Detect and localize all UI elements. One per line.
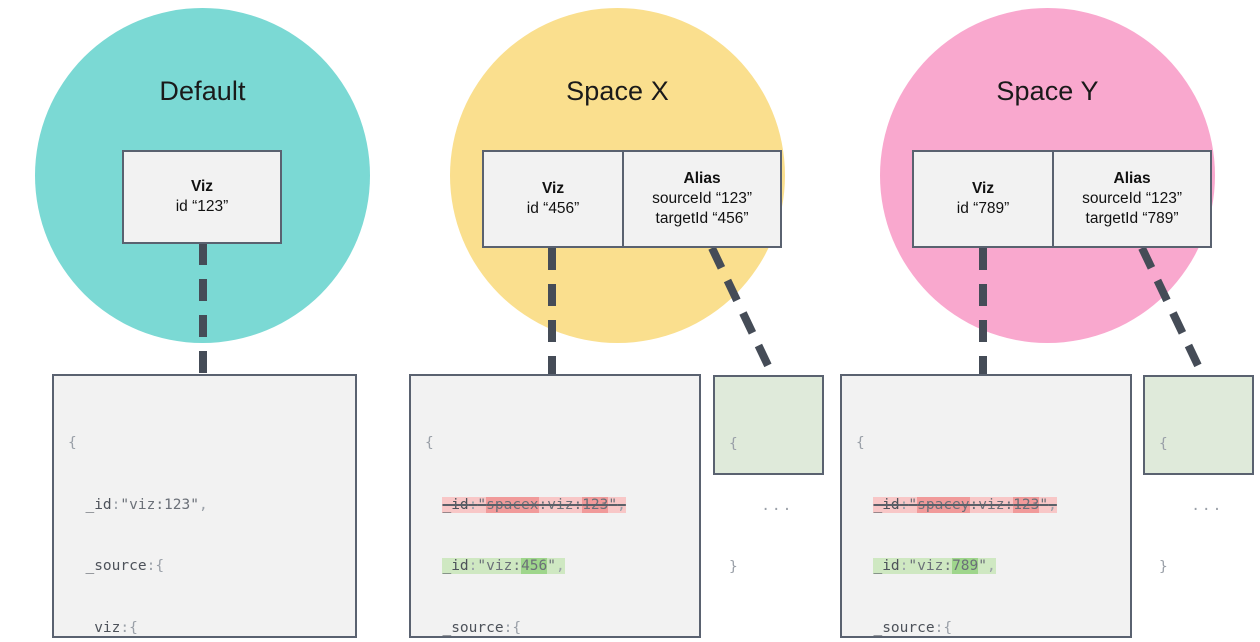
comma: , <box>556 558 565 574</box>
code-line: } <box>729 557 808 578</box>
code-line: { <box>425 433 685 454</box>
value-id-number-removed: 123 <box>582 497 608 513</box>
entity-title-viz: Viz <box>191 177 213 197</box>
colon: : <box>147 558 156 574</box>
entity-cell-viz-spacex: Viz id “456” <box>484 152 622 246</box>
entity-title-viz: Viz <box>542 179 564 199</box>
code-line-added: _id:"viz:456", <box>425 556 685 577</box>
key-id-removed: _id <box>442 497 468 513</box>
brace-open: { <box>425 435 434 451</box>
brace-close: } <box>1159 559 1168 575</box>
space-title-spacey: Space Y <box>880 76 1215 107</box>
code-line: _source:{ <box>856 618 1116 639</box>
quote: " <box>608 497 617 513</box>
entity-cell-viz-default: Viz id “123” <box>124 152 280 242</box>
entity-detail-id: id “789” <box>957 199 1010 219</box>
key-id-removed: _id <box>873 497 899 513</box>
entity-box-spacex: Viz id “456” Alias sourceId “123” target… <box>482 150 782 248</box>
code-line: _source:{ <box>68 556 341 577</box>
entity-detail-sourceid: sourceId “123” <box>1082 189 1182 209</box>
entity-detail-targetid: targetId “456” <box>656 209 749 229</box>
quote: " <box>978 558 987 574</box>
colon: : <box>120 620 129 636</box>
entity-title-alias: Alias <box>684 169 721 189</box>
value-id-number-removed: 123 <box>1013 497 1039 513</box>
value-id-namespace-removed: spacey <box>917 497 969 513</box>
entity-cell-viz-spacey: Viz id “789” <box>914 152 1052 246</box>
key-id: _id <box>85 497 111 513</box>
value-id-namespace-removed: spacex <box>486 497 538 513</box>
brace-open: { <box>512 620 521 636</box>
code-line: _source:{ <box>425 618 685 639</box>
key-source: _source <box>85 558 146 574</box>
ellipsis: ... <box>1191 498 1223 514</box>
quote: " <box>477 497 486 513</box>
code-line: { <box>856 433 1116 454</box>
entity-detail-id: id “456” <box>527 199 580 219</box>
code-line-removed: _id:"spacex:viz:123", <box>425 495 685 516</box>
document-panel-spacey: { _id:"spacey:viz:123", _id:"viz:789", _… <box>840 374 1132 638</box>
entity-cell-alias-spacey: Alias sourceId “123” targetId “789” <box>1052 152 1210 246</box>
brace-open: { <box>1159 436 1168 452</box>
comma: , <box>617 497 626 513</box>
brace-open: { <box>856 435 865 451</box>
quote: " <box>547 558 556 574</box>
entity-box-default: Viz id “123” <box>122 150 282 244</box>
brace-open: { <box>729 436 738 452</box>
code-line: _id:"viz:123", <box>68 495 341 516</box>
quote: " <box>908 497 917 513</box>
key-viz: viz <box>94 620 120 636</box>
key-id-added: _id <box>442 558 468 574</box>
ellipsis: ... <box>761 498 793 514</box>
entity-cell-alias-spacex: Alias sourceId “123” targetId “456” <box>622 152 780 246</box>
document-panel-spacex: { _id:"spacex:viz:123", _id:"viz:456", _… <box>409 374 701 638</box>
entity-box-spacey: Viz id “789” Alias sourceId “123” target… <box>912 150 1212 248</box>
comma: , <box>199 497 208 513</box>
brace-open: { <box>155 558 164 574</box>
value-id-number-added: 789 <box>952 558 978 574</box>
code-line: { <box>1159 434 1238 455</box>
alias-document-panel-spacey: { ... } <box>1143 375 1254 475</box>
quote: " <box>1039 497 1048 513</box>
code-line-added: _id:"viz:789", <box>856 556 1116 577</box>
code-line-ellipsis: ... <box>729 496 808 517</box>
colon: : <box>504 620 513 636</box>
colon: : <box>935 620 944 636</box>
value-id-number-added: 456 <box>521 558 547 574</box>
code-line-removed: _id:"spacey:viz:123", <box>856 495 1116 516</box>
code-line: { <box>729 434 808 455</box>
code-line: { <box>68 433 341 454</box>
brace-open: { <box>129 620 138 636</box>
code-line-ellipsis: ... <box>1159 496 1238 517</box>
comma: , <box>1048 497 1057 513</box>
entity-detail-sourceid: sourceId “123” <box>652 189 752 209</box>
comma: , <box>987 558 996 574</box>
space-title-default: Default <box>35 76 370 107</box>
entity-detail-targetid: targetId “789” <box>1086 209 1179 229</box>
code-line: } <box>1159 557 1238 578</box>
key-id-added: _id <box>873 558 899 574</box>
entity-title-viz: Viz <box>972 179 994 199</box>
space-title-spacex: Space X <box>450 76 785 107</box>
value-id: "viz:123" <box>120 497 199 513</box>
entity-detail-id: id “123” <box>176 197 229 217</box>
entity-title-alias: Alias <box>1114 169 1151 189</box>
diagram-canvas: Default Viz id “123” { _id:"viz:123", _s… <box>0 0 1260 642</box>
brace-open: { <box>943 620 952 636</box>
key-source: _source <box>873 620 934 636</box>
brace-open: { <box>68 435 77 451</box>
key-source: _source <box>442 620 503 636</box>
brace-close: } <box>729 559 738 575</box>
document-panel-default: { _id:"viz:123", _source:{ viz:{ title:"… <box>52 374 357 638</box>
code-line: viz:{ <box>68 618 341 639</box>
alias-document-panel-spacex: { ... } <box>713 375 824 475</box>
